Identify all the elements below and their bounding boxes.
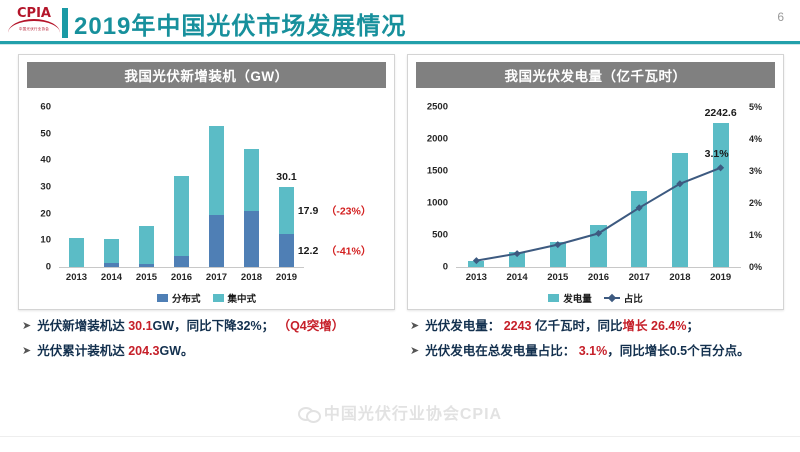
- chart-legend-generation: 发电量 占比: [408, 291, 783, 305]
- legend-swatch-generation: [548, 294, 559, 302]
- y-axis-tick-label: 30: [25, 182, 51, 193]
- data-label-distributed-2019: 12.2: [298, 245, 318, 257]
- bullet-text: 光伏发电量： 2243 亿千瓦时，同比增长 26.4%；: [425, 318, 699, 334]
- bullet-item: ➤光伏发电量： 2243 亿千瓦时，同比增长 26.4%；: [410, 318, 798, 334]
- bar-segment-distributed[interactable]: [244, 211, 259, 267]
- bar-segment-distributed[interactable]: [279, 234, 294, 267]
- chart-title-generation: 我国光伏发电量（亿千瓦时）: [416, 62, 775, 88]
- bullet-text: 光伏新增装机达 30.1GW，同比下降32%； （Q4突增）: [37, 318, 344, 334]
- data-label-generation-2019: 2242.6: [705, 107, 737, 119]
- y-axis-tick-label: 0: [25, 262, 51, 273]
- bullet-text-run: ，同比增长0.5个百分点。: [607, 344, 749, 358]
- bullet-text-run: 3.1%: [579, 344, 608, 358]
- bullet-text-run: 2243: [504, 319, 532, 333]
- title-accent-bar: [62, 8, 68, 38]
- legend-item-distributed[interactable]: 分布式: [157, 291, 201, 305]
- chart-plot-generation: 050010001500200025000%1%2%3%4%5%20132014…: [408, 95, 783, 309]
- chart-panel-new-capacity: 我国光伏新增装机（GW） 010203040506020132014201520…: [18, 54, 395, 310]
- legend-swatch-centralized: [213, 294, 224, 302]
- data-label-centralized-change-2019: （-23%）: [326, 203, 372, 218]
- bullet-text-run: 光伏发电在总发电量占比：: [425, 344, 578, 358]
- bullet-text-run: 亿千瓦时，同比: [532, 319, 623, 333]
- watermark: 中国光伏行业协会CPIA: [0, 400, 800, 424]
- legend-label-generation: 发电量: [563, 291, 592, 305]
- bullet-text-run: （Q4突增）: [274, 319, 344, 333]
- data-label-distributed-change-2019: （-41%）: [326, 243, 372, 258]
- y-axis-tick-label: 60: [25, 102, 51, 113]
- x-axis-tick-label: 2019: [265, 272, 309, 283]
- page-header: CPIA 中国光伏行业协会 2019年中国光伏市场发展情况 6: [0, 0, 800, 46]
- bullet-marker-icon: ➤: [410, 318, 419, 334]
- bar-segment-centralized[interactable]: [104, 239, 119, 263]
- bullet-text-run: GW，同比下降32%；: [153, 319, 275, 333]
- y-axis-tick-label: 40: [25, 155, 51, 166]
- bullet-column-left: ➤光伏新增装机达 30.1GW，同比下降32%； （Q4突增）➤光伏累计装机达 …: [22, 318, 407, 368]
- bullet-marker-icon: ➤: [410, 343, 419, 359]
- bar-segment-distributed[interactable]: [104, 263, 119, 267]
- bar-segment-distributed[interactable]: [139, 264, 154, 267]
- x-axis-line: [59, 267, 304, 268]
- watermark-text: 中国光伏行业协会CPIA: [324, 400, 502, 424]
- cpia-logo: CPIA 中国光伏行业协会: [6, 3, 62, 37]
- bullet-text-run: GW。: [159, 344, 193, 358]
- bar-segment-centralized[interactable]: [69, 238, 84, 267]
- bullet-item: ➤光伏新增装机达 30.1GW，同比下降32%； （Q4突增）: [22, 318, 407, 334]
- chart-legend-new-capacity: 分布式 集中式: [19, 291, 394, 305]
- y-axis-tick-label: 50: [25, 128, 51, 139]
- legend-item-centralized[interactable]: 集中式: [213, 291, 257, 305]
- chart-panel-generation: 我国光伏发电量（亿千瓦时） 050010001500200025000%1%2%…: [407, 54, 784, 310]
- bullet-column-right: ➤光伏发电量： 2243 亿千瓦时，同比增长 26.4%；➤光伏发电在总发电量占…: [410, 318, 798, 368]
- bullet-text-run: 30.1: [128, 319, 152, 333]
- bullet-text-run: 光伏累计装机达: [37, 344, 128, 358]
- data-label-share-2019: 3.1%: [705, 148, 729, 160]
- bullet-marker-icon: ➤: [22, 318, 31, 334]
- data-label-total-2019: 30.1: [276, 171, 296, 183]
- page-number: 6: [777, 10, 784, 24]
- bar-segment-centralized[interactable]: [174, 176, 189, 256]
- bullet-item: ➤光伏累计装机达 204.3GW。: [22, 343, 407, 359]
- legend-swatch-distributed: [157, 294, 168, 302]
- line-series-share: [408, 95, 781, 309]
- wechat-icon: [298, 405, 318, 420]
- chart-plot-new-capacity: 0102030405060201320142015201620172018201…: [19, 95, 394, 309]
- page-title: 2019年中国光伏市场发展情况: [74, 6, 406, 41]
- bar-segment-centralized[interactable]: [244, 149, 259, 211]
- bar-segment-centralized[interactable]: [139, 226, 154, 264]
- bullet-text-run: ；: [686, 319, 699, 333]
- bullet-text-run: 26.4%: [651, 319, 686, 333]
- bullet-text-run: 光伏发电量：: [425, 319, 503, 333]
- bullet-text: 光伏发电在总发电量占比： 3.1%，同比增长0.5个百分点。: [425, 343, 749, 359]
- bullet-text-run: 204.3: [128, 344, 159, 358]
- bar-segment-centralized[interactable]: [209, 126, 224, 216]
- data-label-centralized-2019: 17.9: [298, 205, 318, 217]
- bullet-item: ➤光伏发电在总发电量占比： 3.1%，同比增长0.5个百分点。: [410, 343, 798, 359]
- y-axis-tick-label: 20: [25, 208, 51, 219]
- legend-label-distributed: 分布式: [172, 291, 201, 305]
- legend-item-generation[interactable]: 发电量: [548, 291, 592, 305]
- bullet-text-run: 增长: [623, 319, 648, 333]
- header-divider-light: [0, 44, 800, 45]
- footer-divider: [0, 436, 800, 437]
- legend-label-centralized: 集中式: [228, 291, 257, 305]
- chart-title-new-capacity: 我国光伏新增装机（GW）: [27, 62, 386, 88]
- legend-line-share: [604, 297, 620, 299]
- y-axis-tick-label: 10: [25, 235, 51, 246]
- bullet-text-run: 光伏新增装机达: [37, 319, 128, 333]
- summary-bullets: ➤光伏新增装机达 30.1GW，同比下降32%； （Q4突增）➤光伏累计装机达 …: [0, 318, 800, 390]
- bullet-text: 光伏累计装机达 204.3GW。: [37, 343, 193, 359]
- legend-item-share[interactable]: 占比: [604, 291, 643, 305]
- bar-segment-centralized[interactable]: [279, 187, 294, 235]
- bar-segment-distributed[interactable]: [209, 215, 224, 267]
- bullet-marker-icon: ➤: [22, 343, 31, 359]
- logo-subtitle: 中国光伏行业协会: [9, 27, 59, 32]
- legend-label-share: 占比: [624, 291, 643, 305]
- bar-segment-distributed[interactable]: [174, 256, 189, 267]
